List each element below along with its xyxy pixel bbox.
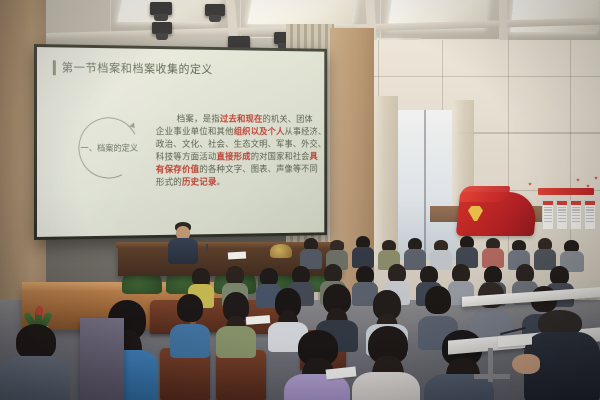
slide-highlight-text: 具 bbox=[310, 152, 318, 162]
audience-member bbox=[482, 238, 504, 268]
audience-member bbox=[170, 294, 210, 356]
table-leg bbox=[474, 374, 510, 379]
wall-display-panel bbox=[570, 200, 582, 230]
audience-member bbox=[284, 330, 350, 400]
projected-slide: 第一节档案和档案收集的定义 一、档案的定义 档案，是指过去和现在的机关、团体企业… bbox=[37, 47, 324, 237]
hand bbox=[512, 354, 540, 374]
track-spotlight-icon bbox=[150, 2, 172, 15]
star-icon bbox=[594, 176, 598, 180]
slide-text: 。 bbox=[217, 178, 226, 188]
audience-member bbox=[300, 238, 322, 268]
slide-body-line: 形式的历史记录。 bbox=[156, 176, 316, 190]
document-on-head-table bbox=[228, 252, 246, 260]
flower-arrangement bbox=[270, 244, 292, 258]
wall-display-panel bbox=[542, 200, 554, 230]
speaker-torso bbox=[168, 238, 198, 264]
notebook-page bbox=[246, 315, 270, 325]
slide-highlight-text: 直接形成 bbox=[217, 153, 251, 163]
microphone-icon bbox=[206, 244, 208, 254]
slide-section-marker: 一、档案的定义 bbox=[80, 142, 138, 154]
slide-highlight-text: 有保存价值 bbox=[156, 165, 200, 175]
star-icon bbox=[528, 182, 532, 186]
projection-screen-frame: 第一节档案和档案收集的定义 一、档案的定义 档案，是指过去和现在的机关、团体企业… bbox=[34, 44, 327, 240]
slide-body-text: 档案，是指过去和现在的机关、团体企业事业单位和其他组织以及个人从事经济、政治、文… bbox=[156, 114, 316, 190]
audience-member bbox=[352, 236, 374, 268]
slide-text: 的机关、团体 bbox=[263, 115, 313, 125]
party-culture-wall-display bbox=[458, 176, 598, 238]
speaker bbox=[166, 222, 200, 262]
slide-text: 档案，是指 bbox=[177, 115, 220, 125]
slide-title-row: 第一节档案和档案收集的定义 bbox=[53, 59, 213, 77]
slide-body-line: 企业事业单位和其他组织以及个人从事经济、 bbox=[156, 126, 316, 139]
slide-text: 科技等方面活动 bbox=[156, 153, 217, 163]
track-spotlight-icon bbox=[152, 22, 172, 34]
slide-text: 形式的 bbox=[156, 178, 182, 188]
wall-display-panel bbox=[584, 200, 596, 230]
wall-display-banner bbox=[538, 188, 594, 195]
slide-body-line: 有保存价值的各种文字、图表、声像等不同 bbox=[156, 164, 316, 177]
audience-member bbox=[0, 324, 70, 400]
slide-body-line: 政治、文化、社会、生态文明、军事、外交、 bbox=[156, 139, 316, 152]
slide-text: 的各种文字、图表、声像等不同 bbox=[199, 165, 318, 175]
slide-text: 从事经济、 bbox=[284, 128, 324, 138]
slide-body-line: 档案，是指过去和现在的机关、团体 bbox=[156, 114, 316, 127]
audience-member-writing bbox=[512, 310, 600, 400]
slide-text: 企业事业单位和其他 bbox=[156, 127, 234, 137]
conference-room-photo: 第一节档案和档案收集的定义 一、档案的定义 档案，是指过去和现在的机关、团体企业… bbox=[0, 0, 600, 400]
ceiling-light-panel bbox=[247, 0, 356, 24]
slide-highlight-text: 过去和现在 bbox=[220, 115, 263, 125]
slide-text: 的对国家和社会 bbox=[251, 152, 310, 162]
lectern bbox=[80, 318, 124, 400]
slide-text: 政治、文化、社会、生态文明、军事、外交、 bbox=[156, 140, 325, 150]
ceiling-light-panel bbox=[510, 0, 600, 32]
wall-display-flag bbox=[460, 186, 510, 202]
wall-display-panel bbox=[556, 200, 568, 230]
slide-highlight-text: 组织以及个人 bbox=[234, 128, 285, 138]
slide-highlight-text: 历史记录 bbox=[182, 178, 217, 188]
track-spotlight-icon bbox=[205, 4, 225, 16]
star-icon bbox=[576, 178, 580, 182]
slide-body-line: 科技等方面活动直接形成的对国家和社会具 bbox=[156, 152, 316, 165]
audience-member bbox=[352, 326, 420, 400]
slide-title: 第一节档案和档案收集的定义 bbox=[62, 59, 213, 77]
title-accent-bar bbox=[53, 60, 56, 75]
